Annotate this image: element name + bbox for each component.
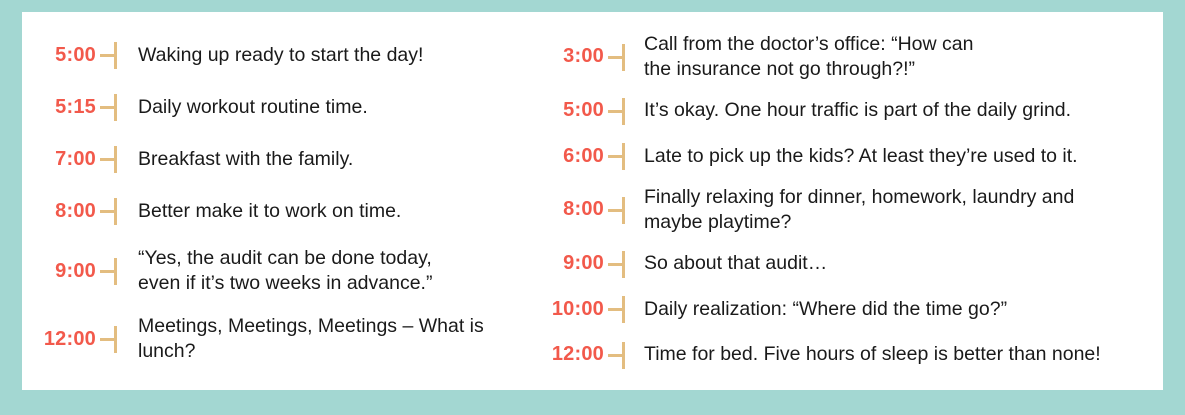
entry-time: 12:00 (532, 343, 604, 366)
timeline-tick-icon (604, 247, 638, 281)
timeline-tick-icon (96, 90, 130, 124)
timeline-row: 7:00 Breakfast with the family. (22, 142, 532, 176)
entry-time: 9:00 (532, 252, 604, 275)
entry-time: 5:15 (22, 96, 96, 119)
entry-description: Meetings, Meetings, Meetings – What is l… (130, 314, 532, 364)
timeline-row: 10:00 Daily realization: “Where did the … (532, 292, 1163, 326)
timeline-row: 8:00 Better make it to work on time. (22, 194, 532, 228)
entry-time: 8:00 (532, 198, 604, 221)
entry-description: So about that audit… (638, 251, 1163, 276)
entry-description: “Yes, the audit can be done today, even … (130, 246, 532, 296)
timeline-row: 5:00 Waking up ready to start the day! (22, 38, 532, 72)
timeline-tick-icon (604, 338, 638, 372)
timeline-row: 6:00 Late to pick up the kids? At least … (532, 139, 1163, 173)
timeline-row: 5:00 It’s okay. One hour traffic is part… (532, 94, 1163, 128)
timeline-column-left: 5:00 Waking up ready to start the day! 5… (22, 12, 532, 390)
entry-time: 7:00 (22, 148, 96, 171)
entry-time: 6:00 (532, 145, 604, 168)
timeline-tick-icon (604, 94, 638, 128)
timeline-tick-icon (96, 38, 130, 72)
entry-time: 9:00 (22, 260, 96, 283)
timeline-tick-icon (604, 292, 638, 326)
entry-description: It’s okay. One hour traffic is part of t… (638, 98, 1163, 123)
timeline-card: 5:00 Waking up ready to start the day! 5… (22, 12, 1163, 390)
timeline-tick-icon (96, 254, 130, 288)
entry-time: 5:00 (532, 99, 604, 122)
timeline-tick-icon (96, 322, 130, 356)
entry-description: Better make it to work on time. (130, 199, 532, 224)
teal-border-frame: 5:00 Waking up ready to start the day! 5… (0, 0, 1185, 415)
timeline-row: 3:00 Call from the doctor’s office: “How… (532, 32, 1163, 82)
timeline-tick-icon (604, 40, 638, 74)
entry-time: 5:00 (22, 44, 96, 67)
entry-time: 10:00 (532, 298, 604, 321)
timeline-row: 8:00 Finally relaxing for dinner, homewo… (532, 185, 1163, 235)
entry-description: Daily workout routine time. (130, 95, 532, 120)
entry-time: 3:00 (532, 45, 604, 68)
timeline-tick-icon (604, 193, 638, 227)
entry-description: Daily realization: “Where did the time g… (638, 297, 1163, 322)
timeline-row: 12:00 Time for bed. Five hours of sleep … (532, 338, 1163, 372)
entry-description: Finally relaxing for dinner, homework, l… (638, 185, 1163, 235)
entry-description: Waking up ready to start the day! (130, 43, 532, 68)
entry-description: Late to pick up the kids? At least they’… (638, 144, 1163, 169)
timeline-tick-icon (96, 142, 130, 176)
entry-time: 8:00 (22, 200, 96, 223)
entry-description: Call from the doctor’s office: “How can … (638, 32, 1163, 82)
timeline-row: 9:00 “Yes, the audit can be done today, … (22, 246, 532, 296)
timeline-row: 9:00 So about that audit… (532, 247, 1163, 281)
entry-description: Time for bed. Five hours of sleep is bet… (638, 342, 1163, 367)
timeline-tick-icon (96, 194, 130, 228)
timeline-tick-icon (604, 139, 638, 173)
timeline-columns: 5:00 Waking up ready to start the day! 5… (22, 12, 1163, 390)
timeline-column-right: 3:00 Call from the doctor’s office: “How… (532, 12, 1163, 390)
entry-description: Breakfast with the family. (130, 147, 532, 172)
timeline-row: 5:15 Daily workout routine time. (22, 90, 532, 124)
timeline-row: 12:00 Meetings, Meetings, Meetings – Wha… (22, 314, 532, 364)
entry-time: 12:00 (22, 328, 96, 351)
